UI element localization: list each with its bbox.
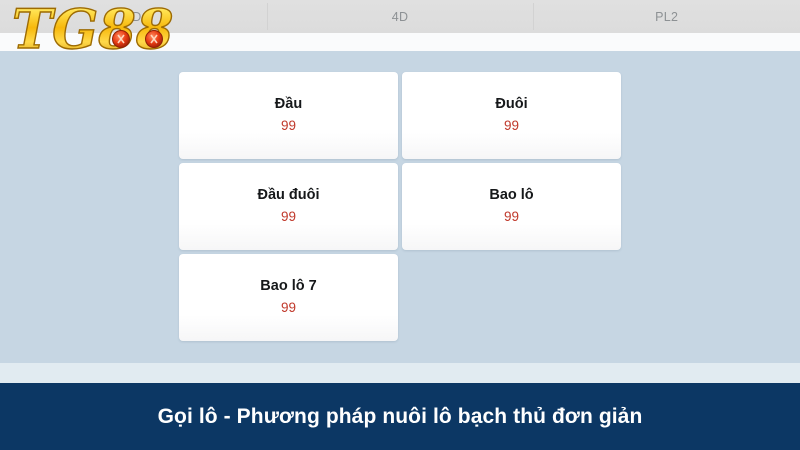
bet-card-value: 99	[504, 210, 519, 225]
tab-pl2[interactable]: PL2	[533, 0, 800, 33]
pale-divider-band	[0, 363, 800, 383]
bet-card-value: 99	[281, 301, 296, 316]
bet-card-value: 99	[281, 119, 296, 134]
tab-4d[interactable]: 4D	[267, 0, 534, 33]
bet-card-label: Đuôi	[495, 97, 527, 113]
bet-card-value: 99	[504, 119, 519, 134]
bet-card-label: Bao lô	[489, 188, 533, 204]
bet-card-label: Bao lô 7	[260, 279, 316, 295]
bet-card[interactable]: Đuôi 99	[402, 72, 621, 159]
bet-card[interactable]: Đầu đuôi 99	[179, 163, 398, 250]
header-strip	[0, 33, 800, 51]
bet-card[interactable]: Đầu 99	[179, 72, 398, 159]
caption-banner: Gọi lô - Phương pháp nuôi lô bạch thủ đơ…	[0, 383, 800, 450]
tab-3d[interactable]: 3D	[0, 0, 267, 33]
tab-3d-label: 3D	[125, 10, 142, 24]
bet-options-grid: Đầu 99 Đuôi 99 Đầu đuôi 99 Bao lô 99 Bao…	[179, 72, 621, 341]
tab-4d-label: 4D	[392, 10, 409, 24]
caption-text: Gọi lô - Phương pháp nuôi lô bạch thủ đơ…	[158, 405, 643, 429]
bet-card-label: Đầu	[275, 97, 302, 113]
bet-card[interactable]: Bao lô 99	[402, 163, 621, 250]
tab-pl2-label: PL2	[655, 10, 678, 24]
top-tab-bar: 3D 4D PL2	[0, 0, 800, 33]
bet-card[interactable]: Bao lô 7 99	[179, 254, 398, 341]
bet-card-label: Đầu đuôi	[257, 188, 319, 204]
bet-card-value: 99	[281, 210, 296, 225]
content-area: Đầu 99 Đuôi 99 Đầu đuôi 99 Bao lô 99 Bao…	[0, 51, 800, 363]
